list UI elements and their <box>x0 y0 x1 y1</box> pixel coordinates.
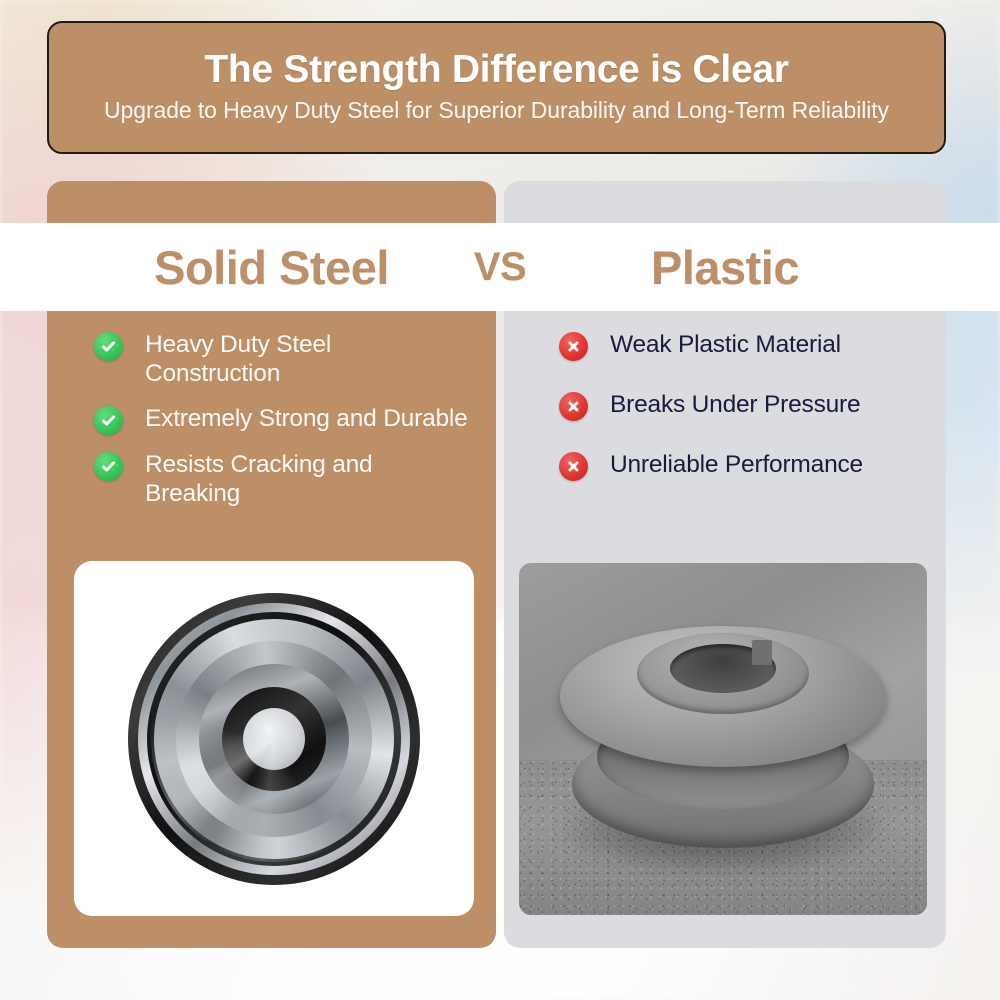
banner-subtitle: Upgrade to Heavy Duty Steel for Superior… <box>104 97 889 125</box>
title-plastic: Plastic <box>504 223 946 311</box>
title-solid-steel: Solid Steel <box>47 223 496 311</box>
feature-label: Weak Plastic Material <box>610 329 841 359</box>
comparison-title-strip: Solid Steel VS Plastic <box>0 223 1000 311</box>
feature-list-plastic: Weak Plastic Material Breaks Under Press… <box>504 311 946 509</box>
cross-icon <box>559 332 588 361</box>
comparison-title-row: Solid Steel VS Plastic <box>0 223 1000 311</box>
plastic-pulley-image <box>519 563 927 915</box>
feature-item: Breaks Under Pressure <box>559 389 924 421</box>
feature-item: Extremely Strong and Durable <box>94 403 470 435</box>
product-photo-steel <box>74 561 474 916</box>
feature-item: Weak Plastic Material <box>559 329 924 361</box>
infographic-canvas: The Strength Difference is Clear Upgrade… <box>0 0 1000 1000</box>
cross-icon <box>559 392 588 421</box>
cross-icon <box>559 452 588 481</box>
steel-pulley-image <box>74 561 474 916</box>
feature-label: Unreliable Performance <box>610 449 863 479</box>
check-icon <box>94 332 123 361</box>
feature-item: Unreliable Performance <box>559 449 924 481</box>
plastic-pulley-keyway <box>752 640 772 665</box>
feature-label: Resists Cracking and Breaking <box>145 449 470 509</box>
check-icon <box>94 452 123 481</box>
feature-list-steel: Heavy Duty Steel Construction Extremely … <box>47 311 496 523</box>
steel-pulley-graphic <box>128 593 420 885</box>
banner-title: The Strength Difference is Clear <box>204 50 788 91</box>
product-photo-plastic <box>519 563 927 915</box>
check-icon <box>94 406 123 435</box>
header-banner: The Strength Difference is Clear Upgrade… <box>47 21 946 154</box>
feature-label: Heavy Duty Steel Construction <box>145 329 470 389</box>
feature-label: Breaks Under Pressure <box>610 389 860 419</box>
feature-item: Heavy Duty Steel Construction <box>94 329 470 389</box>
feature-label: Extremely Strong and Durable <box>145 403 468 433</box>
feature-item: Resists Cracking and Breaking <box>94 449 470 509</box>
pulley-specular-highlight <box>151 616 397 862</box>
